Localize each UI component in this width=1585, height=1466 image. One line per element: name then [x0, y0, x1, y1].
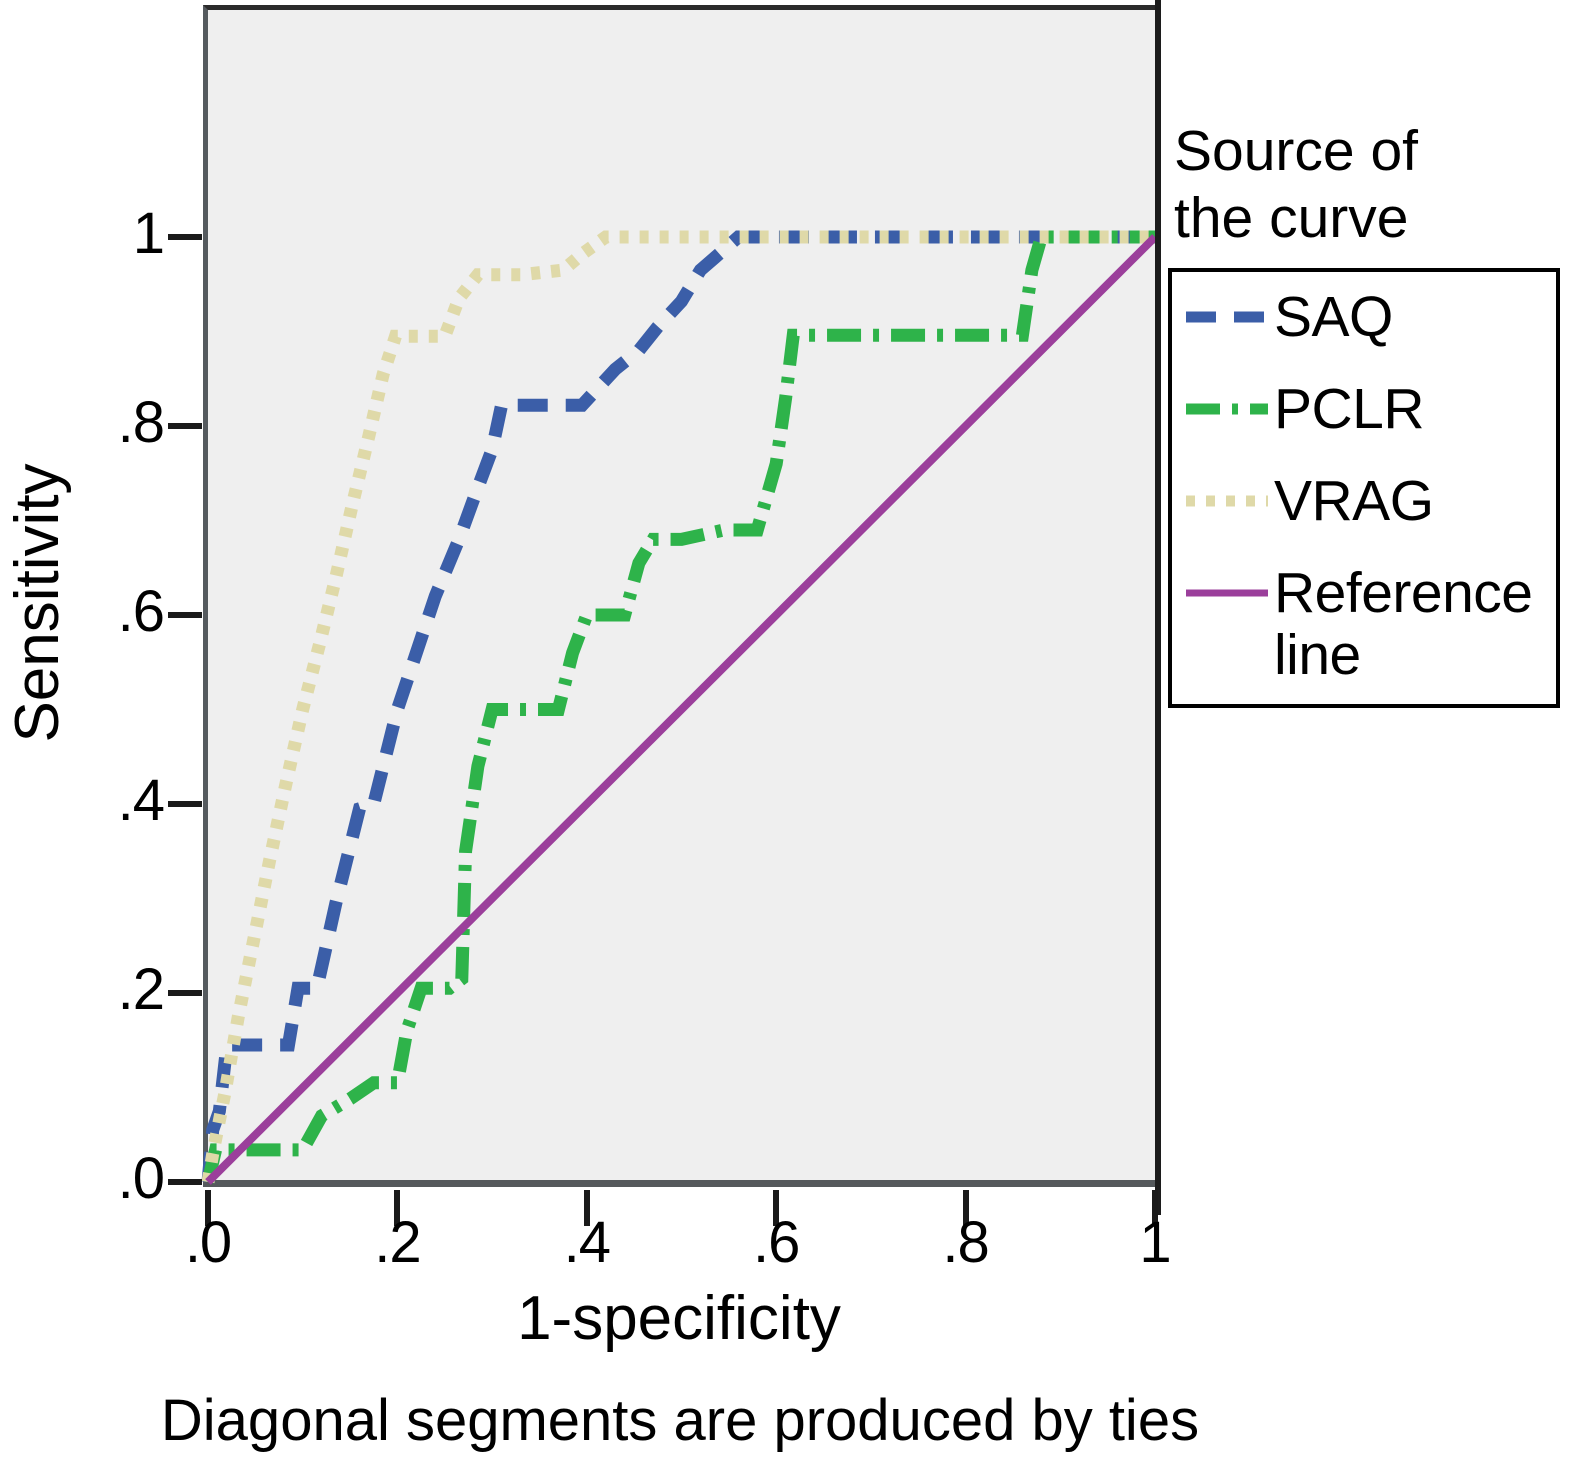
y-tick-mark: [168, 612, 202, 618]
x-tick-label: .2: [337, 1214, 457, 1272]
plot-right-border: [1155, 0, 1161, 1215]
y-tick-label: .2: [118, 961, 164, 1019]
curve-reference-line: [208, 237, 1155, 1182]
x-tick-label: 1: [1095, 1214, 1215, 1272]
chart-footnote: Diagonal segments are produced by ties: [130, 1392, 1230, 1450]
x-tick-label: .8: [906, 1214, 1026, 1272]
legend-item-label: PCLR: [1274, 378, 1424, 440]
legend-swatch-dotted-icon: [1184, 470, 1270, 532]
legend-box: SAQPCLRVRAGReference line: [1168, 268, 1560, 708]
legend-item-label: Reference line: [1274, 562, 1533, 686]
y-axis-title: Sensitivity: [7, 393, 69, 813]
plot-area: [203, 5, 1155, 1187]
y-tick-label: .4: [118, 772, 164, 830]
legend-item-saq[interactable]: SAQ: [1172, 286, 1556, 378]
legend-item-vrag[interactable]: VRAG: [1172, 470, 1556, 562]
x-tick-label: .0: [148, 1214, 268, 1272]
x-tick-label: .6: [716, 1214, 836, 1272]
y-tick-label: .8: [118, 394, 164, 452]
legend-item-reference-line[interactable]: Reference line: [1172, 562, 1556, 686]
y-tick-mark: [168, 423, 202, 429]
roc-chart-figure: .0.2.4.6.81.0.2.4.6.81 Sensitivity 1-spe…: [0, 0, 1585, 1466]
y-tick-label: .6: [118, 583, 164, 641]
y-tick-mark: [168, 990, 202, 996]
y-tick-label: .0: [118, 1150, 164, 1208]
legend-swatch-dashed-icon: [1184, 286, 1270, 348]
x-tick-label: .4: [527, 1214, 647, 1272]
x-axis-title: 1-specificity: [203, 1288, 1155, 1350]
y-tick-label: 1: [133, 205, 164, 263]
legend-swatch-solid-icon: [1184, 562, 1270, 624]
y-tick-mark: [168, 1179, 202, 1185]
legend-item-label: VRAG: [1274, 470, 1434, 532]
legend-item-pclr[interactable]: PCLR: [1172, 378, 1556, 470]
y-tick-mark: [168, 801, 202, 807]
y-tick-mark: [168, 234, 202, 240]
legend-title: Source of the curve: [1168, 118, 1568, 252]
legend: Source of the curve SAQPCLRVRAGReference…: [1168, 118, 1568, 708]
curves-layer: [203, 5, 1155, 1187]
legend-swatch-dash-dot-icon: [1184, 378, 1270, 440]
legend-item-label: SAQ: [1274, 286, 1393, 348]
